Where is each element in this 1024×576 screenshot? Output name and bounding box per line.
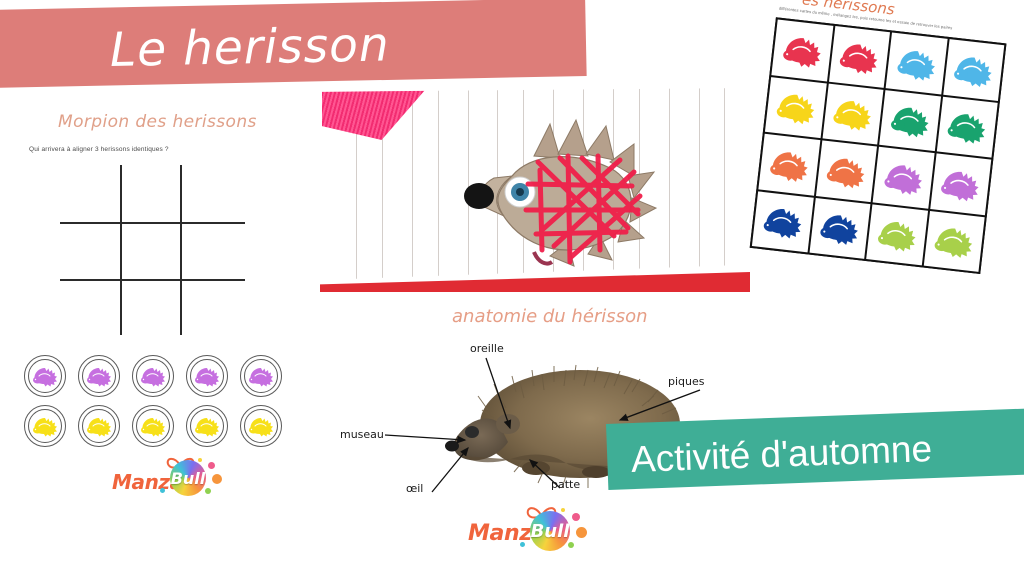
token-row-purple	[24, 355, 304, 397]
token-purple[interactable]	[240, 355, 282, 397]
token-purple[interactable]	[78, 355, 120, 397]
logo-bubble: Bull	[170, 460, 206, 496]
memory-card[interactable]	[765, 77, 826, 138]
memory-card[interactable]	[879, 90, 940, 151]
tictactoe-grid[interactable]	[60, 165, 245, 335]
logo-bubble-word: Bull	[530, 511, 570, 551]
grid-line-vertical-1	[120, 165, 122, 335]
memory-card[interactable]	[758, 134, 819, 195]
label-piques: piques	[668, 375, 705, 388]
logo-bubble: Bull	[530, 511, 570, 551]
memory-card[interactable]	[809, 197, 870, 258]
memory-card[interactable]	[886, 33, 947, 94]
token-yellow[interactable]	[24, 405, 66, 447]
memory-card[interactable]	[822, 83, 883, 144]
memory-card[interactable]	[866, 204, 927, 265]
memory-card[interactable]	[816, 140, 877, 201]
memory-card[interactable]	[752, 191, 813, 252]
token-purple[interactable]	[132, 355, 174, 397]
memory-card[interactable]	[829, 26, 890, 87]
memory-card[interactable]	[936, 96, 997, 157]
memory-card[interactable]	[873, 147, 934, 208]
craft-photo	[322, 88, 750, 280]
memory-card[interactable]	[923, 210, 984, 271]
token-purple[interactable]	[24, 355, 66, 397]
token-purple[interactable]	[186, 355, 228, 397]
memory-card-grid[interactable]	[750, 17, 1007, 274]
cardboard-hedgehog-craft	[442, 110, 672, 275]
logo-bubble-word: Bull	[170, 460, 206, 496]
grid-line-horizontal-1	[60, 222, 245, 224]
memory-game-sheet: es herissons différentes cartes du même …	[726, 0, 1024, 289]
label-oreille: oreille	[470, 342, 504, 355]
token-set	[24, 355, 304, 455]
poster-canvas: Le herisson Morpion des herissons Qui ar…	[0, 0, 1024, 576]
memory-card[interactable]	[943, 39, 1004, 100]
memory-card[interactable]	[930, 153, 991, 214]
anatomy-title: anatomie du hérisson	[452, 306, 692, 327]
morpion-title: Morpion des herissons	[58, 112, 298, 132]
token-yellow[interactable]	[186, 405, 228, 447]
label-patte: patte	[551, 478, 580, 491]
token-yellow[interactable]	[78, 405, 120, 447]
logo-manzabull-bottom: Manza Bull	[468, 508, 598, 552]
label-oeil: œil	[406, 482, 423, 495]
grid-line-vertical-2	[180, 165, 182, 335]
token-yellow[interactable]	[240, 405, 282, 447]
token-yellow[interactable]	[132, 405, 174, 447]
label-museau: museau	[340, 428, 384, 441]
morpion-subtitle: Qui arrivera à aligner 3 herissons ident…	[29, 146, 319, 153]
memory-card[interactable]	[771, 19, 832, 80]
page-title: Le herisson	[109, 7, 580, 86]
token-row-yellow	[24, 405, 304, 447]
logo-manzabull-left: Manza Bull	[112, 458, 232, 498]
grid-line-horizontal-2	[60, 279, 245, 281]
